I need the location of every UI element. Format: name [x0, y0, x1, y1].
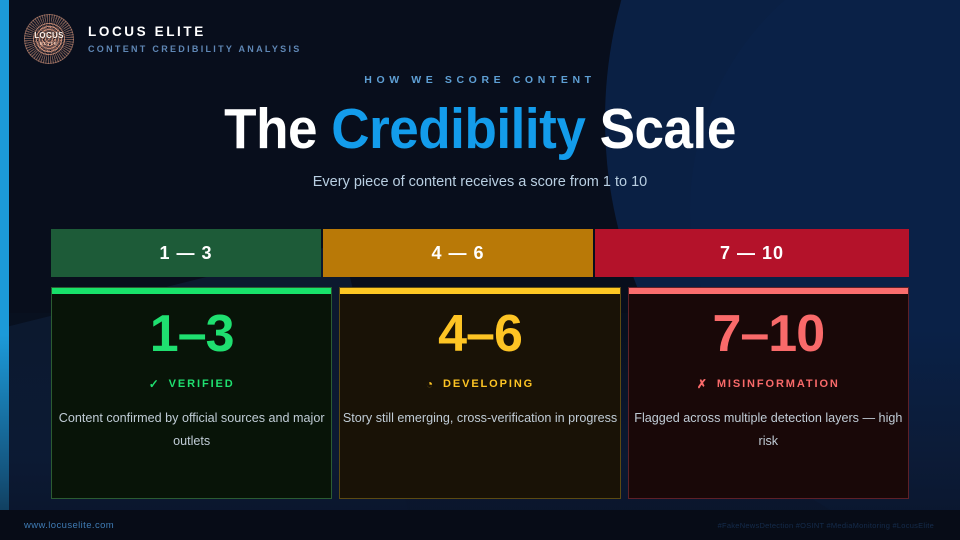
score-card-group: 1–3 ✓ VERIFIED Content confirmed by offi…	[51, 287, 909, 499]
card-status-text: MISINFORMATION	[717, 378, 840, 390]
brand-tagline: CONTENT CREDIBILITY ANALYSIS	[88, 44, 302, 54]
hero-eyebrow: HOW WE SCORE CONTENT	[0, 74, 960, 86]
card-accent-bar	[340, 288, 619, 294]
score-card-developing: 4–6 ◔ DEVELOPING Story still emerging, c…	[339, 287, 620, 499]
score-card-verified: 1–3 ✓ VERIFIED Content confirmed by offi…	[51, 287, 332, 499]
hero-section: HOW WE SCORE CONTENT The Credibility Sca…	[0, 74, 960, 190]
card-accent-bar	[52, 288, 331, 294]
logo-text-primary: LOCUS	[34, 32, 64, 40]
left-accent-rail	[0, 0, 9, 540]
card-status-label: ◔ DEVELOPING	[426, 378, 534, 390]
card-accent-bar	[629, 288, 908, 294]
score-segment-mid: 4 — 6	[323, 229, 593, 277]
card-range: 4–6	[438, 308, 522, 360]
card-description: Flagged across multiple detection layers…	[629, 407, 908, 454]
check-icon: ✓	[149, 378, 161, 390]
brand-header: LOCUS ELITE LOCUS ELITE CONTENT CREDIBIL…	[24, 14, 302, 64]
card-status-label: ✓ VERIFIED	[149, 378, 235, 390]
clock-icon: ◔	[426, 378, 435, 390]
slide-canvas: LOCUS ELITE LOCUS ELITE CONTENT CREDIBIL…	[0, 0, 960, 540]
logo-text-secondary: ELITE	[40, 42, 58, 47]
brand-text-block: LOCUS ELITE CONTENT CREDIBILITY ANALYSIS	[88, 24, 302, 54]
brand-name: LOCUS ELITE	[88, 24, 302, 39]
card-status-text: DEVELOPING	[443, 378, 534, 390]
page-title: The Credibility Scale	[34, 100, 927, 160]
score-card-misinformation: 7–10 ✗ MISINFORMATION Flagged across mul…	[628, 287, 909, 499]
hero-subtitle: Every piece of content receives a score …	[0, 174, 960, 190]
card-status-label: ✗ MISINFORMATION	[697, 378, 840, 390]
footer-website-link[interactable]: www.locuselite.com	[24, 520, 114, 531]
title-part-2: Scale	[585, 97, 735, 161]
title-highlight: Credibility	[331, 97, 585, 161]
cross-icon: ✗	[697, 378, 709, 390]
card-range: 1–3	[150, 308, 234, 360]
score-segment-low: 1 — 3	[51, 229, 321, 277]
slide-footer: www.locuselite.com #FakeNewsDetection #O…	[0, 510, 960, 540]
footer-hashtags: #FakeNewsDetection #OSINT #MediaMonitori…	[718, 521, 934, 530]
title-part-1: The	[224, 97, 331, 161]
card-description: Content confirmed by official sources an…	[52, 407, 331, 454]
score-range-bar: 1 — 3 4 — 6 7 — 10	[51, 229, 909, 277]
card-range: 7–10	[712, 308, 824, 360]
rosette-seal-icon: LOCUS ELITE	[24, 14, 74, 64]
card-status-text: VERIFIED	[169, 378, 235, 390]
card-description: Story still emerging, cross-verification…	[343, 407, 617, 430]
logo-inner-text: LOCUS ELITE	[24, 14, 74, 64]
score-segment-high: 7 — 10	[595, 229, 909, 277]
